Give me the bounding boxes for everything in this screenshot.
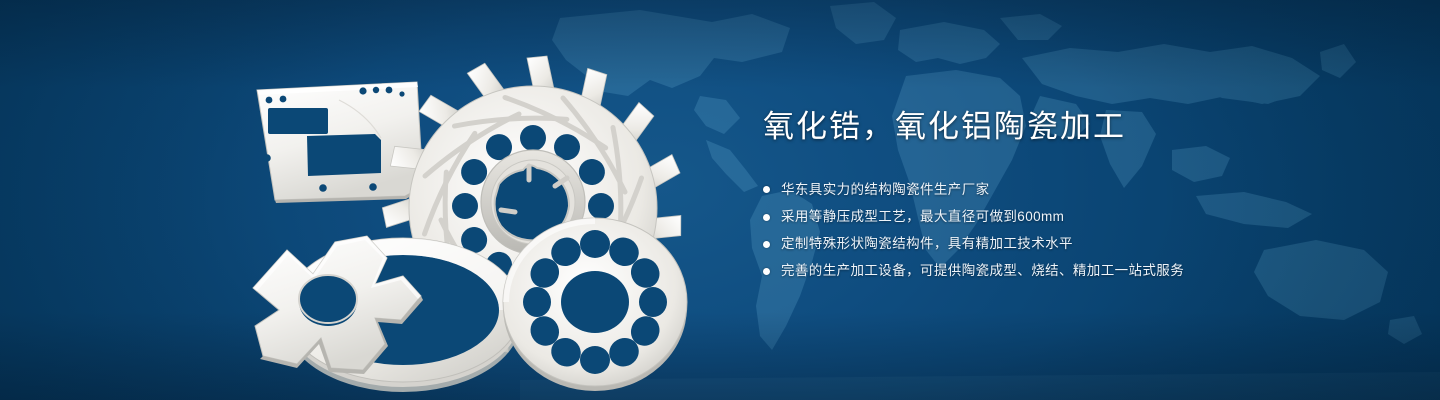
feature-text: 华东具实力的结构陶瓷件生产厂家 [781, 181, 990, 199]
feature-text: 定制特殊形状陶瓷结构件，具有精加工技术水平 [781, 235, 1073, 253]
ceramic-perforated-disc [503, 218, 687, 391]
bullet-dot-icon [763, 186, 770, 193]
feature-text: 采用等静压成型工艺，最大直径可做到600mm [781, 208, 1064, 226]
hero-banner: 氧化锆，氧化铝陶瓷加工 华东具实力的结构陶瓷件生产厂家 采用等静压成型工艺，最大… [0, 0, 1440, 400]
feature-list: 华东具实力的结构陶瓷件生产厂家 采用等静压成型工艺，最大直径可做到600mm 定… [763, 181, 1383, 281]
list-item: 定制特殊形状陶瓷结构件，具有精加工技术水平 [763, 235, 1383, 253]
list-item: 采用等静压成型工艺，最大直径可做到600mm [763, 208, 1383, 226]
list-item: 完善的生产加工设备，可提供陶瓷成型、烧结、精加工一站式服务 [763, 262, 1383, 280]
marketing-copy: 氧化锆，氧化铝陶瓷加工 华东具实力的结构陶瓷件生产厂家 采用等静压成型工艺，最大… [763, 108, 1383, 290]
list-item: 华东具实力的结构陶瓷件生产厂家 [763, 181, 1383, 199]
ceramic-products-image [235, 38, 705, 383]
ceramic-mounting-plate [257, 82, 423, 203]
bullet-dot-icon [763, 241, 770, 248]
bullet-dot-icon [763, 268, 770, 275]
feature-text: 完善的生产加工设备，可提供陶瓷成型、烧结、精加工一站式服务 [781, 262, 1184, 280]
page-title: 氧化锆，氧化铝陶瓷加工 [763, 108, 1383, 147]
bullet-dot-icon [763, 214, 770, 221]
